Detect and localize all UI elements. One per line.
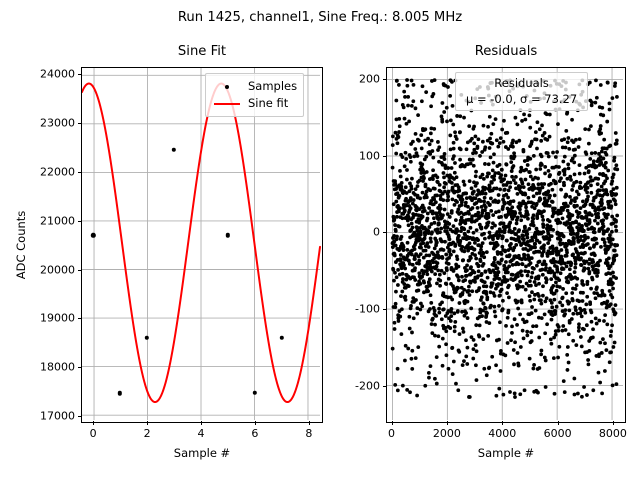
sine-fit-title: Sine Fit <box>81 44 323 59</box>
x-tick <box>613 421 614 425</box>
residuals-legend-stats: μ = -0.0, σ = 73.27 <box>466 92 577 108</box>
sine-fit-plot-area <box>82 68 322 422</box>
y-tick <box>78 318 82 319</box>
x-tick-label: 2 <box>144 427 151 440</box>
y-tick-label: 19000 <box>15 312 75 325</box>
x-tick <box>447 421 448 425</box>
y-tick-label: 20000 <box>15 263 75 276</box>
y-tick <box>383 309 387 310</box>
y-tick-label: 23000 <box>15 117 75 130</box>
x-tick <box>147 421 148 425</box>
samples-marker-icon <box>212 85 242 89</box>
sine-fit-line-icon <box>212 103 242 105</box>
y-tick <box>78 123 82 124</box>
y-tick <box>78 74 82 75</box>
x-tick-label: 2000 <box>433 427 461 440</box>
x-tick <box>502 421 503 425</box>
x-tick-label: 6000 <box>544 427 572 440</box>
x-tick-label: 8 <box>305 427 312 440</box>
y-tick <box>383 232 387 233</box>
x-tick-label: 4000 <box>488 427 516 440</box>
y-tick-label: 22000 <box>15 165 75 178</box>
x-tick <box>558 421 559 425</box>
residuals-legend[interactable]: Residuals μ = -0.0, σ = 73.27 <box>455 72 588 111</box>
y-tick-label: 21000 <box>15 214 75 227</box>
sine-fit-xlabel: Sample # <box>81 446 323 460</box>
residuals-xlabel: Sample # <box>386 446 626 460</box>
legend-entry-sine-fit: Sine fit <box>212 95 297 112</box>
sine-fit-legend[interactable]: Samples Sine fit <box>205 73 304 117</box>
y-tick-label: 200 <box>320 72 380 85</box>
x-tick-label: 0 <box>90 427 97 440</box>
x-tick-label: 6 <box>251 427 258 440</box>
legend-label-sine-fit: Sine fit <box>248 98 288 110</box>
x-tick <box>255 421 256 425</box>
y-tick-label: -100 <box>320 303 380 316</box>
y-tick-label: 17000 <box>15 410 75 423</box>
y-tick-label: 100 <box>320 149 380 162</box>
residuals-title: Residuals <box>386 44 626 59</box>
y-tick <box>78 367 82 368</box>
figure-suptitle: Run 1425, channel1, Sine Freq.: 8.005 MH… <box>0 10 640 25</box>
residuals-axes <box>386 67 626 423</box>
y-tick-label: 24000 <box>15 68 75 81</box>
y-tick <box>78 416 82 417</box>
y-tick-label: 18000 <box>15 361 75 374</box>
y-tick <box>78 172 82 173</box>
x-tick-label: 0 <box>388 427 395 440</box>
x-tick <box>201 421 202 425</box>
x-tick <box>93 421 94 425</box>
y-tick-label: -200 <box>320 380 380 393</box>
residuals-legend-title: Residuals <box>466 76 577 92</box>
residuals-plot-area <box>387 68 625 422</box>
matplotlib-figure: Run 1425, channel1, Sine Freq.: 8.005 MH… <box>0 0 640 480</box>
x-tick <box>309 421 310 425</box>
x-tick <box>392 421 393 425</box>
y-tick <box>383 386 387 387</box>
x-tick-label: 8000 <box>599 427 627 440</box>
legend-entry-samples: Samples <box>212 78 297 95</box>
legend-label-samples: Samples <box>248 81 297 93</box>
y-tick <box>383 156 387 157</box>
y-tick <box>78 270 82 271</box>
sine-fit-axes <box>81 67 323 423</box>
y-tick <box>78 221 82 222</box>
y-tick <box>383 79 387 80</box>
y-tick-label: 0 <box>320 226 380 239</box>
x-tick-label: 4 <box>198 427 205 440</box>
